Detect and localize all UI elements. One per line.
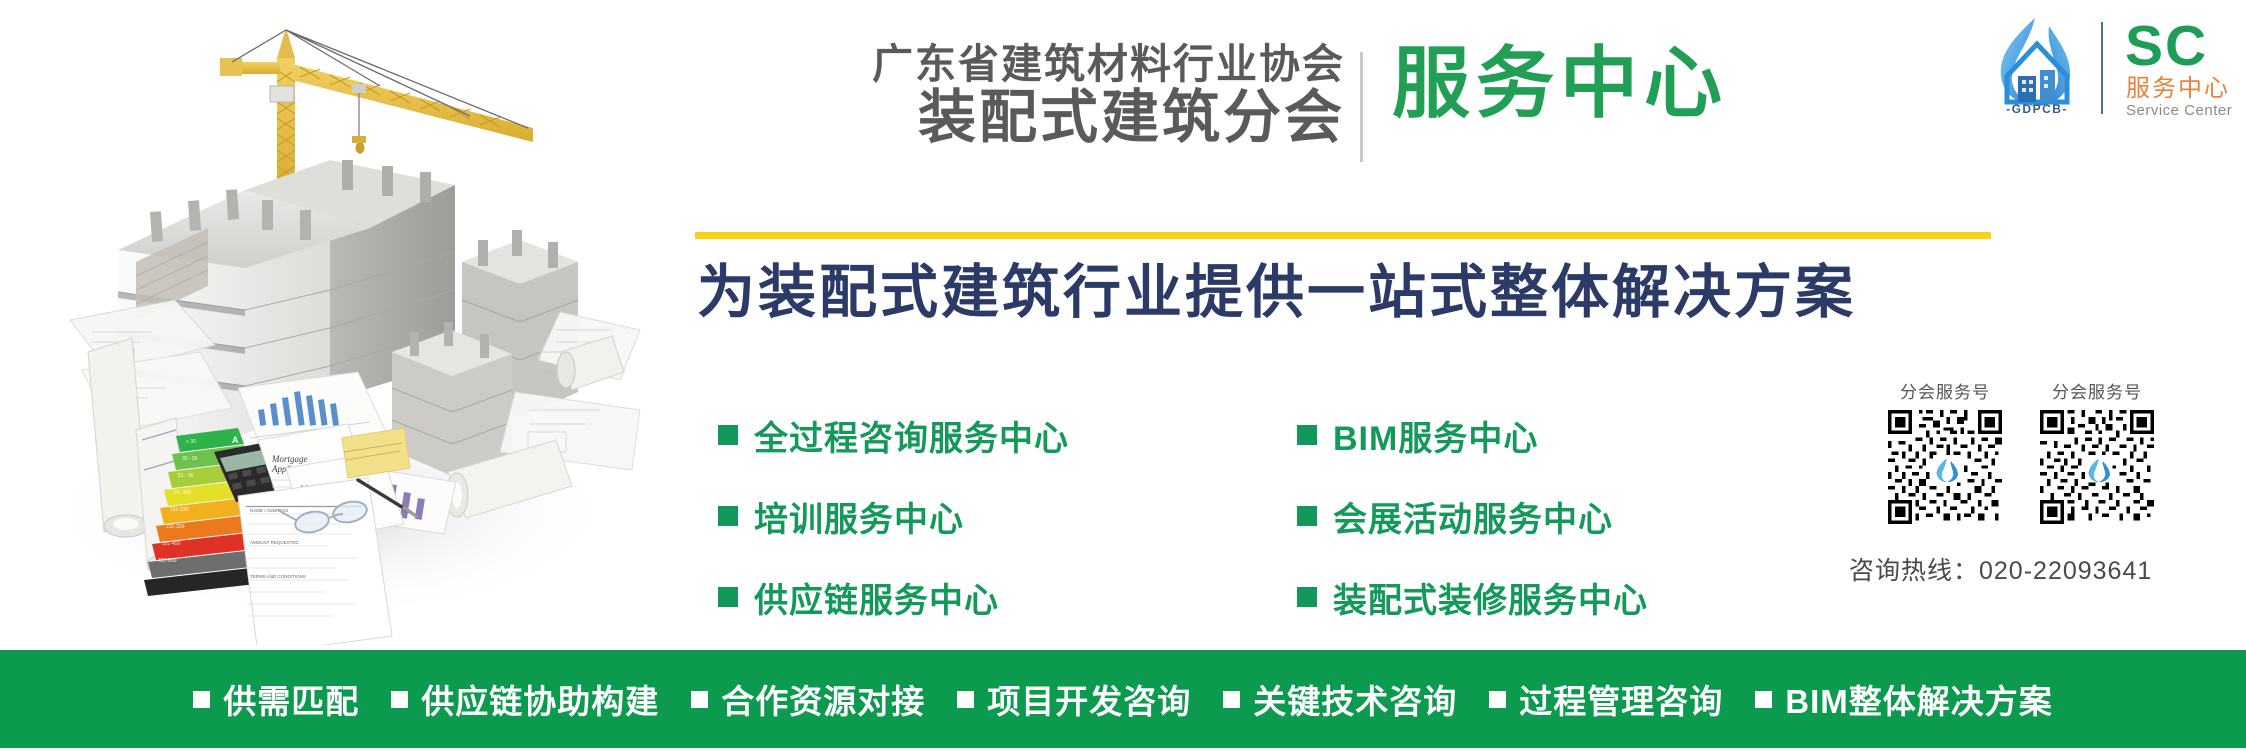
logo-name-en: Service Center — [2126, 103, 2232, 118]
organization-title-block: 广东省建筑材料行业协会 装配式建筑分会 — [585, 42, 1345, 149]
service-item-label: 供应链服务中心 — [754, 573, 999, 622]
bottom-item-bim[interactable]: BIM整体解决方案 — [1755, 675, 2053, 723]
square-bullet-icon — [957, 691, 974, 708]
square-bullet-icon — [718, 425, 738, 445]
service-item-label: 会展活动服务中心 — [1333, 492, 1613, 541]
qr-block-2: 分会服务号 — [2040, 378, 2154, 524]
main-headline: 为装配式建筑行业提供一站式整体解决方案 — [697, 258, 1856, 328]
svg-text:451-600: 451-600 — [158, 558, 177, 564]
service-item-zhuangxiu[interactable]: 装配式装修服务中心 — [1297, 567, 1648, 627]
service-item-peixun[interactable]: 培训服务中心 — [718, 486, 1069, 546]
svg-text:91 -150: 91 -150 — [174, 490, 191, 496]
bottom-item-hezuoziyuan[interactable]: 合作资源对接 — [691, 675, 925, 723]
logo-abbreviation: -GDPCB- — [1985, 102, 2089, 116]
bottom-item-xiangmukaifa[interactable]: 项目开发咨询 — [957, 675, 1191, 723]
square-bullet-icon — [1755, 691, 1772, 708]
service-list-left: 全过程咨询服务中心 培训服务中心 供应链服务中心 — [718, 405, 1069, 648]
square-bullet-icon — [718, 506, 738, 526]
qr-code-icon[interactable] — [2040, 410, 2154, 524]
svg-text:TERMS AND CONDITIONS: TERMS AND CONDITIONS — [250, 574, 306, 579]
service-center-title: 服务中心 — [1392, 44, 1728, 122]
service-item-label: 培训服务中心 — [754, 492, 964, 541]
bottom-item-label: 合作资源对接 — [721, 675, 925, 723]
service-item-label: 装配式装修服务中心 — [1333, 573, 1648, 622]
bottom-item-guanjianjishu[interactable]: 关键技术咨询 — [1223, 675, 1457, 723]
service-item-label: 全过程咨询服务中心 — [754, 411, 1069, 460]
logo-name-cn: 服务中心 — [2126, 77, 2230, 101]
bottom-bar-items: 供需匹配 供应链协助构建 合作资源对接 项目开发咨询 关键技术咨询 过程管理咨询 — [193, 675, 2053, 723]
square-bullet-icon — [1297, 425, 1317, 445]
service-list-right: BIM服务中心 会展活动服务中心 装配式装修服务中心 — [1297, 405, 1648, 648]
service-item-label: BIM服务中心 — [1333, 411, 1538, 460]
square-bullet-icon — [691, 691, 708, 708]
bottom-item-gongxupipei[interactable]: 供需匹配 — [193, 675, 359, 723]
bottom-item-label: BIM整体解决方案 — [1785, 675, 2053, 723]
svg-text:151-230: 151-230 — [170, 507, 189, 513]
bottom-item-label: 项目开发咨询 — [987, 675, 1191, 723]
svg-text:231-330: 231-330 — [166, 524, 185, 530]
qr-block-1: 分会服务号 — [1888, 378, 2002, 524]
square-bullet-icon — [1297, 506, 1317, 526]
brand-logo[interactable]: -GDPCB- SC 服务中心 Service Center — [1985, 14, 2237, 122]
banner-root: AB CD EF GH I < 3030 - 50 51 - 9091 -150… — [0, 0, 2246, 752]
yellow-divider-rule — [695, 232, 1991, 239]
svg-text:Mortgage: Mortgage — [271, 454, 308, 464]
svg-text:30 - 50: 30 - 50 — [182, 456, 198, 462]
bottom-item-label: 供需匹配 — [223, 675, 359, 723]
construction-scene-illustration: AB CD EF GH I < 3030 - 50 51 - 9091 -150… — [0, 0, 660, 645]
svg-text:A: A — [232, 435, 239, 445]
hero-construction-image: AB CD EF GH I < 3030 - 50 51 - 9091 -150… — [0, 0, 660, 645]
qr-label: 分会服务号 — [2040, 378, 2154, 403]
service-item-gongyinglian[interactable]: 供应链服务中心 — [718, 567, 1069, 627]
svg-text:< 30: < 30 — [186, 439, 196, 445]
logo-separator — [2101, 22, 2103, 114]
square-bullet-icon — [718, 587, 738, 607]
square-bullet-icon — [1297, 587, 1317, 607]
svg-text:AMOUNT REQUESTED: AMOUNT REQUESTED — [250, 540, 299, 545]
svg-text:331-450: 331-450 — [162, 541, 181, 547]
square-bullet-icon — [391, 691, 408, 708]
square-bullet-icon — [1489, 691, 1506, 708]
bottom-services-bar: 供需匹配 供应链协助构建 合作资源对接 项目开发咨询 关键技术咨询 过程管理咨询 — [0, 650, 2246, 748]
bottom-item-guochengguanli[interactable]: 过程管理咨询 — [1489, 675, 1723, 723]
svg-text:51 - 90: 51 - 90 — [178, 473, 194, 479]
service-item-quanguocheng[interactable]: 全过程咨询服务中心 — [718, 405, 1069, 465]
bottom-item-label: 关键技术咨询 — [1253, 675, 1457, 723]
org-name-line1: 广东省建筑材料行业协会 — [585, 42, 1345, 86]
org-name-line2: 装配式建筑分会 — [585, 88, 1345, 149]
hotline-text: 咨询热线：020-22093641 — [1849, 551, 2152, 587]
qr-code-icon[interactable] — [1888, 410, 2002, 524]
square-bullet-icon — [1223, 691, 1240, 708]
service-item-bim[interactable]: BIM服务中心 — [1297, 405, 1648, 465]
title-vertical-divider — [1360, 52, 1363, 162]
bottom-item-label: 过程管理咨询 — [1519, 675, 1723, 723]
qr-code-group: 分会服务号 — [1888, 378, 2154, 524]
logo-initials: SC — [2125, 18, 2208, 75]
bottom-item-gongyinglian[interactable]: 供应链协助构建 — [391, 675, 659, 723]
service-item-huizhan[interactable]: 会展活动服务中心 — [1297, 486, 1648, 546]
bottom-item-label: 供应链协助构建 — [421, 675, 659, 723]
square-bullet-icon — [193, 691, 210, 708]
qr-label: 分会服务号 — [1888, 378, 2002, 403]
